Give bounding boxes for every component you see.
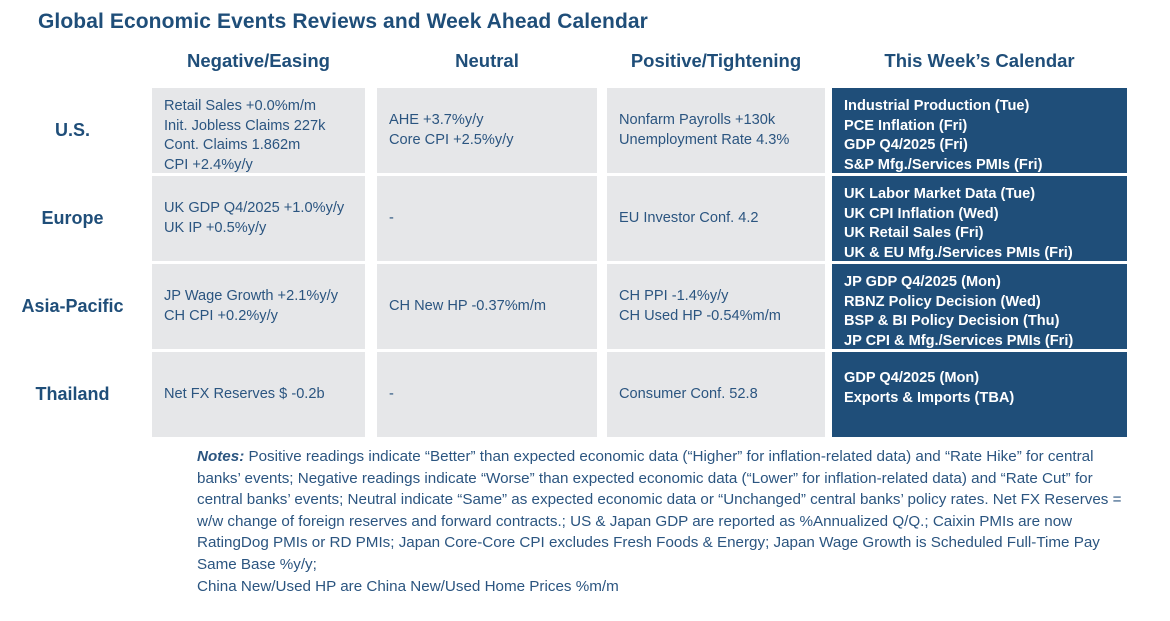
list-item: UK GDP Q4/2025 +1.0%y/y (164, 199, 353, 219)
list-item: EU Investor Conf. 4.2 (619, 209, 813, 229)
list-item: CH PPI -1.4%y/y (619, 287, 813, 307)
table-row: Europe UK GDP Q4/2025 +1.0%y/y UK IP +0.… (0, 176, 1170, 261)
cell-thailand-calendar: GDP Q4/2025 (Mon) Exports & Imports (TBA… (832, 352, 1127, 437)
cell-europe-calendar: UK Labor Market Data (Tue) UK CPI Inflat… (832, 176, 1127, 261)
list-item: RBNZ Policy Decision (Wed) (844, 293, 1115, 313)
cell-asia-neutral: CH New HP -0.37%m/m (377, 264, 597, 349)
column-header-row: Negative/Easing Neutral Positive/Tighten… (0, 50, 1170, 80)
list-item: JP GDP Q4/2025 (Mon) (844, 273, 1115, 293)
cell-thailand-positive: Consumer Conf. 52.8 (607, 352, 825, 437)
notes-body: Positive readings indicate “Better” than… (197, 448, 1122, 573)
table-row: U.S. Retail Sales +0.0%m/m Init. Jobless… (0, 88, 1170, 173)
cell-europe-neutral: - (377, 176, 597, 261)
list-item: Unemployment Rate 4.3% (619, 131, 813, 151)
cell-thailand-negative: Net FX Reserves $ -0.2b (152, 352, 365, 437)
row-label-europe: Europe (0, 176, 145, 261)
cell-europe-negative: UK GDP Q4/2025 +1.0%y/y UK IP +0.5%y/y (152, 176, 365, 261)
list-item: GDP Q4/2025 (Mon) (844, 369, 1115, 389)
column-header-neutral: Neutral (377, 50, 597, 72)
events-grid: U.S. Retail Sales +0.0%m/m Init. Jobless… (0, 88, 1170, 440)
cell-us-negative: Retail Sales +0.0%m/m Init. Jobless Clai… (152, 88, 365, 173)
list-item: - (389, 209, 585, 229)
cell-asia-negative: JP Wage Growth +2.1%y/y CH CPI +0.2%y/y (152, 264, 365, 349)
cell-us-positive: Nonfarm Payrolls +130k Unemployment Rate… (607, 88, 825, 173)
table-row: Thailand Net FX Reserves $ -0.2b - Consu… (0, 352, 1170, 437)
list-item: UK CPI Inflation (Wed) (844, 205, 1115, 225)
row-label-us: U.S. (0, 88, 145, 173)
list-item: CH CPI +0.2%y/y (164, 307, 353, 327)
row-label-thailand: Thailand (0, 352, 145, 437)
list-item: Industrial Production (Tue) (844, 97, 1115, 117)
column-header-negative: Negative/Easing (152, 50, 365, 72)
list-item: UK IP +0.5%y/y (164, 219, 353, 239)
cell-asia-calendar: JP GDP Q4/2025 (Mon) RBNZ Policy Decisio… (832, 264, 1127, 349)
list-item: Net FX Reserves $ -0.2b (164, 385, 353, 405)
column-header-positive: Positive/Tightening (607, 50, 825, 72)
list-item: UK Retail Sales (Fri) (844, 224, 1115, 244)
list-item: BSP & BI Policy Decision (Thu) (844, 312, 1115, 332)
cell-europe-positive: EU Investor Conf. 4.2 (607, 176, 825, 261)
list-item: CH New HP -0.37%m/m (389, 297, 585, 317)
column-header-calendar: This Week’s Calendar (832, 50, 1127, 72)
cell-us-neutral: AHE +3.7%y/y Core CPI +2.5%y/y (377, 88, 597, 173)
cell-us-calendar: Industrial Production (Tue) PCE Inflatio… (832, 88, 1127, 173)
table-row: Asia-Pacific JP Wage Growth +2.1%y/y CH … (0, 264, 1170, 349)
list-item: Nonfarm Payrolls +130k (619, 111, 813, 131)
notes-block: Notes: Positive readings indicate “Bette… (197, 446, 1137, 597)
cell-thailand-neutral: - (377, 352, 597, 437)
list-item: JP CPI & Mfg./Services PMIs (Fri) (844, 332, 1115, 352)
list-item: JP Wage Growth +2.1%y/y (164, 287, 353, 307)
notes-label: Notes: (197, 448, 244, 465)
list-item: - (389, 385, 585, 405)
list-item: Core CPI +2.5%y/y (389, 131, 585, 151)
list-item: UK Labor Market Data (Tue) (844, 185, 1115, 205)
page-title: Global Economic Events Reviews and Week … (38, 10, 648, 34)
list-item: AHE +3.7%y/y (389, 111, 585, 131)
row-label-asia-pacific: Asia-Pacific (0, 264, 145, 349)
list-item: UK & EU Mfg./Services PMIs (Fri) (844, 244, 1115, 264)
list-item: PCE Inflation (Fri) (844, 117, 1115, 137)
cell-asia-positive: CH PPI -1.4%y/y CH Used HP -0.54%m/m (607, 264, 825, 349)
list-item: GDP Q4/2025 (Fri) (844, 136, 1115, 156)
report-page: Global Economic Events Reviews and Week … (0, 0, 1170, 621)
list-item: Cont. Claims 1.862m (164, 136, 353, 156)
list-item: CPI +2.4%y/y (164, 156, 353, 176)
list-item: Consumer Conf. 52.8 (619, 385, 813, 405)
notes-last-line: China New/Used HP are China New/Used Hom… (197, 578, 619, 595)
list-item: Exports & Imports (TBA) (844, 389, 1115, 409)
list-item: S&P Mfg./Services PMIs (Fri) (844, 156, 1115, 176)
notes-paragraph: Notes: Positive readings indicate “Bette… (197, 446, 1137, 597)
list-item: Retail Sales +0.0%m/m (164, 97, 353, 117)
list-item: CH Used HP -0.54%m/m (619, 307, 813, 327)
list-item: Init. Jobless Claims 227k (164, 117, 353, 137)
